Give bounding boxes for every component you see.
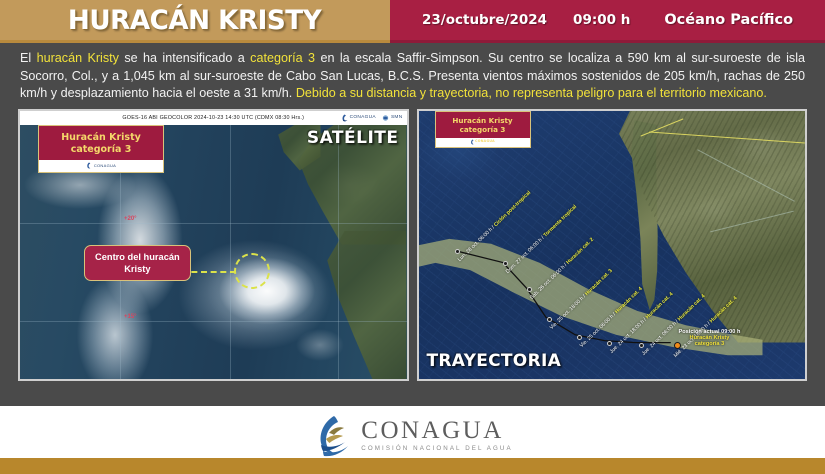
track-node[interactable] <box>547 317 552 322</box>
header-meta-block: 23/octubre/2024 09:00 h Océano Pacífico <box>390 0 825 40</box>
trajectory-badge-name: Huracán Kristy <box>438 116 528 126</box>
track-node[interactable] <box>607 341 612 346</box>
satellite-gridline-lon3 <box>338 125 339 379</box>
conagua-wordmark: CONAGUA COMISIÓN NACIONAL DEL AGUA <box>361 418 512 452</box>
conagua-logo-small-text: CONAGUA <box>350 115 376 120</box>
smn-logo-small-text: SMN <box>391 115 403 120</box>
current-position-line1: Posición actual 09:00 h <box>679 329 741 335</box>
satellite-gridline-lat20 <box>20 223 407 224</box>
trajectory-panel[interactable]: Lun. 28 oct. 06:00 h / Ciclón post-tropi… <box>417 109 808 381</box>
header-crimson-divider <box>390 40 825 43</box>
summary-text-2: se ha intensificado a <box>119 51 250 65</box>
trajectory-badge-footer: CONAGUA <box>436 138 530 147</box>
satellite-lat-label-20: +20° <box>124 216 137 222</box>
page-header: HURACÁN KRISTY 23/octubre/2024 09:00 h O… <box>0 0 825 40</box>
smn-logo-small: SMN <box>382 114 403 122</box>
trajectory-panel-label: TRAYECTORIA <box>427 351 562 371</box>
satellite-storm-badge: Huracán Kristy categoría 3 CONAGUA <box>38 125 164 173</box>
trajectory-storm-badge: Huracán Kristy categoría 3 CONAGUA <box>435 111 531 148</box>
summary-text-1: El <box>20 51 37 65</box>
header-date: 23/octubre/2024 <box>422 12 547 28</box>
page-title: HURACÁN KRISTY <box>68 5 321 36</box>
satellite-badge-category: categoría 3 <box>41 144 161 156</box>
summary-highlight-2: categoría 3 <box>250 51 315 65</box>
current-position-line3: categoría 3 <box>679 341 741 347</box>
header-title-block: HURACÁN KRISTY <box>0 0 390 40</box>
satellite-info-strip: GOES-16 ABI GEOCOLOR 2024-10-23 14:30 UT… <box>20 111 407 125</box>
satellite-source-text: GOES-16 ABI GEOCOLOR 2024-10-23 14:30 UT… <box>122 115 304 121</box>
satellite-center-line1: Centro del huracán <box>95 251 180 263</box>
header-zone: Océano Pacífico <box>664 12 793 28</box>
map-panels: +20° +15° Centro del huracán Kristy GOES… <box>0 109 825 381</box>
satellite-lat-label-15: +15° <box>124 314 137 320</box>
conagua-water-swirl-icon <box>312 413 352 457</box>
track-node[interactable] <box>527 287 532 292</box>
trajectory-badge-footer-text: CONAGUA <box>475 137 495 147</box>
track-node[interactable] <box>577 335 582 340</box>
conagua-subtitle: COMISIÓN NACIONAL DEL AGUA <box>361 445 512 452</box>
satellite-panel-label: SATÉLITE <box>307 128 399 148</box>
conagua-logo: CONAGUA COMISIÓN NACIONAL DEL AGUA <box>312 413 512 457</box>
conagua-name: CONAGUA <box>361 418 512 444</box>
satellite-badge-name: Huracán Kristy <box>41 132 161 144</box>
satellite-panel[interactable]: +20° +15° Centro del huracán Kristy GOES… <box>18 109 409 381</box>
summary-paragraph: El huracán Kristy se ha intensificado a … <box>0 40 825 109</box>
satellite-gridline-lat15 <box>20 321 407 322</box>
track-node[interactable] <box>639 343 644 348</box>
smn-emblem-icon <box>382 114 389 122</box>
footer-gold-bar <box>0 458 825 474</box>
satellite-gridline-lon2 <box>230 125 231 379</box>
track-node[interactable] <box>455 249 460 254</box>
current-position-callout: Posición actual 09:00 h Huracán Kristy c… <box>679 329 741 347</box>
summary-highlight-3: Debido a su distancia y trayectoria, no … <box>296 86 767 100</box>
header-gold-divider <box>0 40 390 43</box>
trajectory-badge-category: categoría 3 <box>438 125 528 135</box>
summary-highlight-1: huracán Kristy <box>37 51 119 65</box>
page-footer: CONAGUA COMISIÓN NACIONAL DEL AGUA <box>0 406 825 474</box>
satellite-center-marker-circle <box>234 253 270 289</box>
water-swirl-icon <box>341 114 348 122</box>
track-node[interactable] <box>503 261 508 266</box>
satellite-badge-footer: CONAGUA <box>39 160 163 172</box>
satellite-center-line2: Kristy <box>95 263 180 275</box>
satellite-badge-footer-text: CONAGUA <box>94 163 116 168</box>
conagua-logo-small: CONAGUA <box>341 114 376 122</box>
satellite-center-callout: Centro del huracán Kristy <box>84 245 191 281</box>
water-swirl-icon <box>86 162 92 169</box>
header-time: 09:00 h <box>573 12 630 28</box>
